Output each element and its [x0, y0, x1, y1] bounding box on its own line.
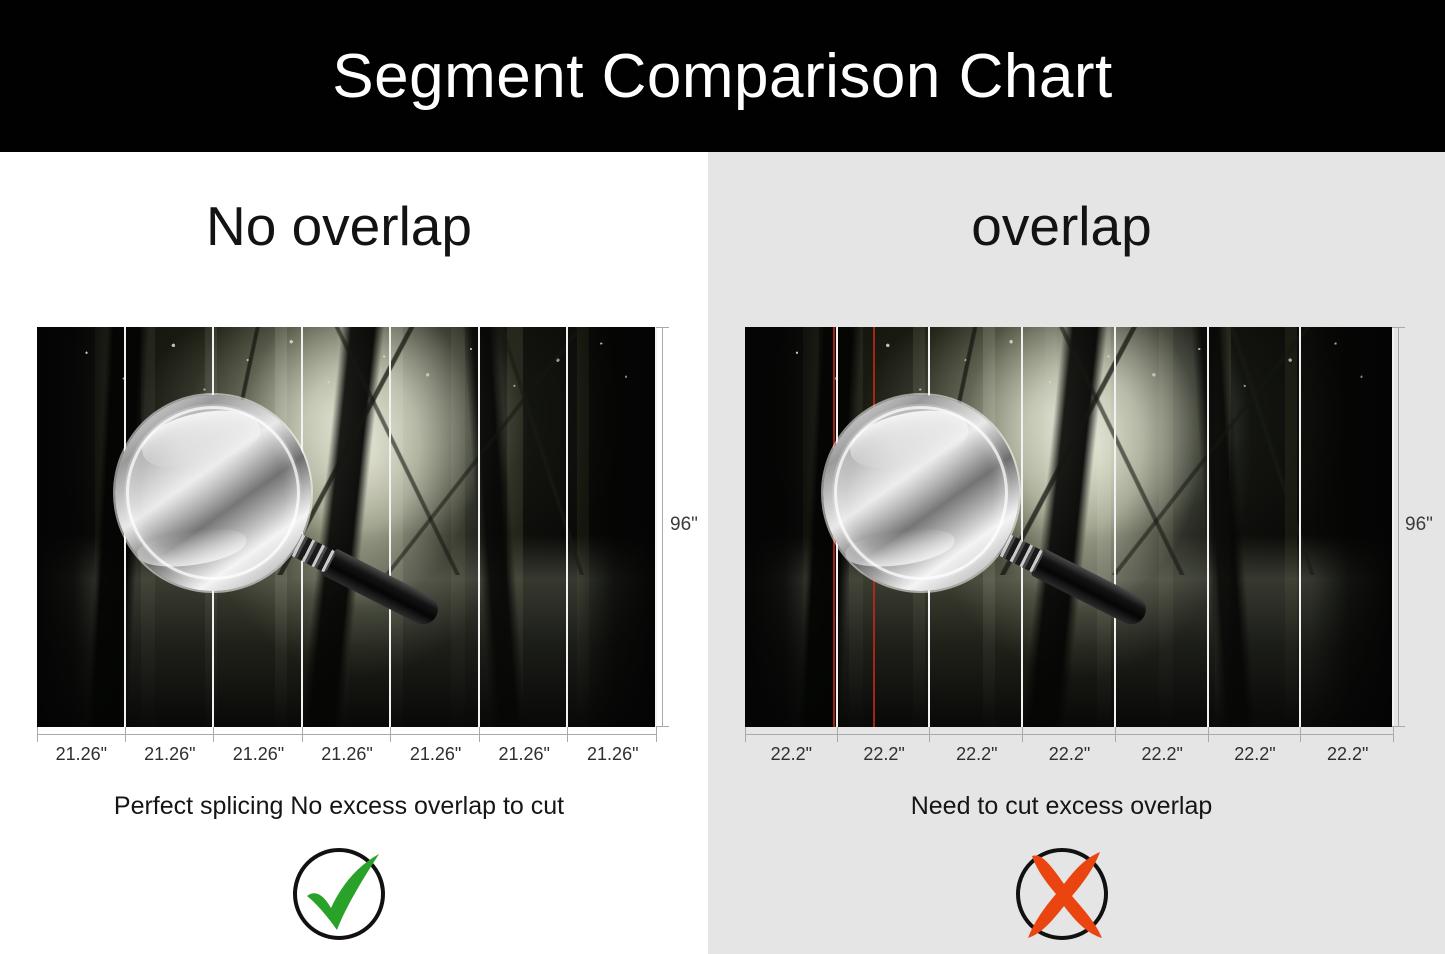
segment-width-label: 22.2"	[930, 744, 1023, 765]
height-dimension-label: 96"	[1405, 514, 1433, 536]
mural-segment	[1116, 327, 1209, 727]
segment-ruler	[745, 734, 1394, 735]
segment-width-labels: 22.2" 22.2" 22.2" 22.2" 22.2" 22.2" 22.2…	[745, 744, 1394, 765]
panel-no-overlap: No overlap	[0, 152, 708, 954]
segment-width-label: 21.26"	[391, 744, 480, 765]
panel-overlap: overlap	[708, 152, 1445, 954]
segment-width-labels: 21.26" 21.26" 21.26" 21.26" 21.26" 21.26…	[37, 744, 657, 765]
mural-segment	[838, 327, 931, 727]
segment-width-label: 21.26"	[568, 744, 657, 765]
check-mark-icon	[287, 842, 391, 946]
segment-width-label: 22.2"	[745, 744, 838, 765]
segmented-mural	[745, 327, 1394, 727]
segment-width-label: 22.2"	[1023, 744, 1116, 765]
verdict-overlap	[708, 842, 1445, 946]
page-title: Segment Comparison Chart	[332, 41, 1112, 112]
mural-segment	[930, 327, 1023, 727]
mural-overlap	[745, 327, 1394, 727]
panel-heading-overlap: overlap	[708, 194, 1445, 258]
segment-width-label: 21.26"	[126, 744, 215, 765]
comparison-panels: No overlap	[0, 152, 1445, 954]
segmented-mural	[37, 327, 657, 727]
panel-caption-no-overlap: Perfect splicing No excess overlap to cu…	[0, 792, 708, 821]
segment-width-label: 21.26"	[214, 744, 303, 765]
mural-segment	[1023, 327, 1116, 727]
panel-heading-no-overlap: No overlap	[0, 194, 708, 258]
panel-caption-overlap: Need to cut excess overlap	[708, 792, 1445, 821]
mural-segment	[303, 327, 392, 727]
segment-width-label: 22.2"	[838, 744, 931, 765]
segment-ruler	[37, 734, 657, 735]
height-dimension-line	[1398, 327, 1399, 727]
mural-segment	[37, 327, 126, 727]
mural-segment	[214, 327, 303, 727]
mural-segment	[391, 327, 480, 727]
segment-width-label: 21.26"	[303, 744, 392, 765]
mural-segment	[480, 327, 569, 727]
mural-segment	[1301, 327, 1394, 727]
height-dimension-line	[662, 327, 663, 727]
height-dimension-label: 96"	[670, 514, 698, 536]
mural-segment	[568, 327, 657, 727]
title-bar: Segment Comparison Chart	[0, 0, 1445, 152]
segment-width-label: 22.2"	[1301, 744, 1394, 765]
segment-width-label: 21.26"	[480, 744, 569, 765]
mural-segment	[126, 327, 215, 727]
segment-width-label: 21.26"	[37, 744, 126, 765]
segment-width-label: 22.2"	[1116, 744, 1209, 765]
verdict-no-overlap	[0, 842, 708, 946]
segment-comparison-chart-page: Segment Comparison Chart No overlap	[0, 0, 1445, 954]
mural-segment	[1209, 327, 1302, 727]
cross-mark-icon	[1010, 842, 1114, 946]
mural-no-overlap	[37, 327, 657, 727]
segment-width-label: 22.2"	[1209, 744, 1302, 765]
mural-segment	[745, 327, 838, 727]
